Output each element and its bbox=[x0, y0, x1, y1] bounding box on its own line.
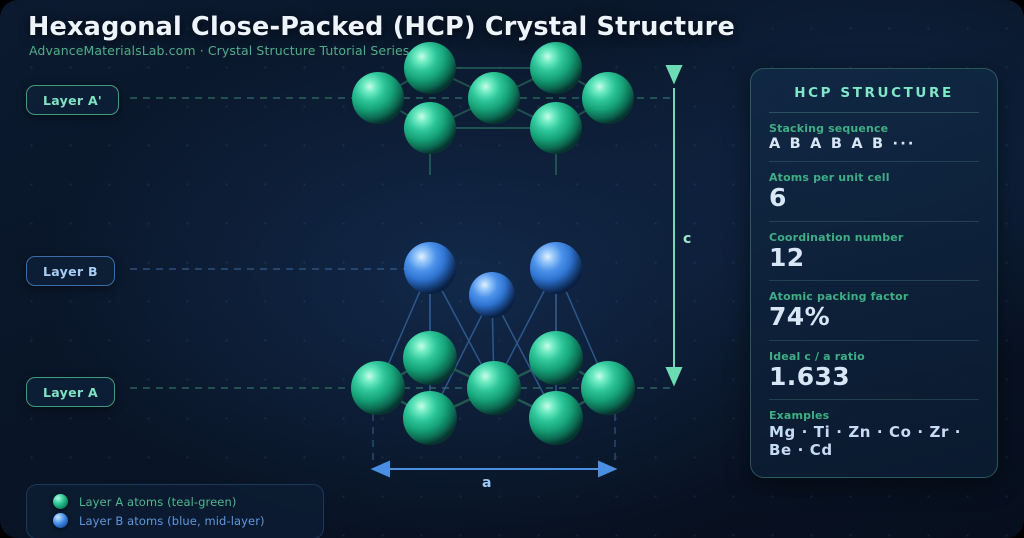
legend-item-label: Layer A atoms (teal-green) bbox=[79, 495, 236, 509]
layer-tag-a[interactable]: Layer A bbox=[26, 377, 115, 407]
page-subtitle: AdvanceMaterialsLab.com · Crystal Struct… bbox=[29, 43, 409, 58]
stat-label: Examples bbox=[769, 409, 979, 422]
legend-box: Layer A atoms (teal-green) Layer B atoms… bbox=[26, 484, 324, 538]
info-panel: HCP STRUCTURE Stacking sequence A B A B … bbox=[750, 68, 998, 478]
stat-atoms-per-unit-cell: Atoms per unit cell 6 bbox=[769, 162, 979, 222]
layer-a-prime-atoms bbox=[352, 42, 634, 154]
legend-item: Layer B atoms (blue, mid-layer) bbox=[39, 511, 311, 530]
page-title: Hexagonal Close-Packed (HCP) Crystal Str… bbox=[28, 12, 735, 42]
layer-tag-a-prime[interactable]: Layer A' bbox=[26, 85, 119, 115]
legend-teal-atom-icon bbox=[53, 494, 68, 509]
stat-ideal-c-a-ratio: Ideal c / a ratio 1.633 bbox=[769, 341, 979, 401]
stat-examples: Examples Mg · Ti · Zn · Co · Zr · Be · C… bbox=[769, 400, 979, 461]
layer-tag-a-prime-label: Layer A' bbox=[43, 93, 102, 108]
stat-stacking-sequence: Stacking sequence A B A B A B ··· bbox=[769, 113, 979, 162]
dimension-label-a: a bbox=[482, 475, 492, 491]
legend-blue-atom-icon bbox=[53, 513, 68, 528]
dimension-arrow-c bbox=[667, 66, 681, 384]
dimension-arrow-a bbox=[373, 462, 615, 476]
stat-value: 1.633 bbox=[769, 364, 979, 391]
stat-label: Stacking sequence bbox=[769, 122, 979, 135]
info-panel-title: HCP STRUCTURE bbox=[769, 85, 979, 113]
stat-label: Atoms per unit cell bbox=[769, 171, 979, 184]
stat-atomic-packing-factor: Atomic packing factor 74% bbox=[769, 281, 979, 341]
dimension-label-c: c bbox=[683, 231, 692, 247]
layer-tag-b-label: Layer B bbox=[43, 264, 98, 279]
legend-item-label: Layer B atoms (blue, mid-layer) bbox=[79, 514, 265, 528]
layer-tag-a-label: Layer A bbox=[43, 385, 98, 400]
stat-value: A B A B A B ··· bbox=[769, 136, 979, 152]
stat-value: 6 bbox=[769, 185, 979, 212]
legend-item: Layer A atoms (teal-green) bbox=[39, 492, 311, 511]
stat-value: 74% bbox=[769, 304, 979, 331]
stat-label: Coordination number bbox=[769, 231, 979, 244]
stat-value: Mg · Ti · Zn · Co · Zr · Be · Cd bbox=[769, 423, 979, 459]
layer-tag-b[interactable]: Layer B bbox=[26, 256, 115, 286]
stat-label: Ideal c / a ratio bbox=[769, 350, 979, 363]
stat-coordination-number: Coordination number 12 bbox=[769, 222, 979, 282]
stat-value: 12 bbox=[769, 245, 979, 272]
diagram-canvas: Hexagonal Close-Packed (HCP) Crystal Str… bbox=[0, 0, 1024, 538]
